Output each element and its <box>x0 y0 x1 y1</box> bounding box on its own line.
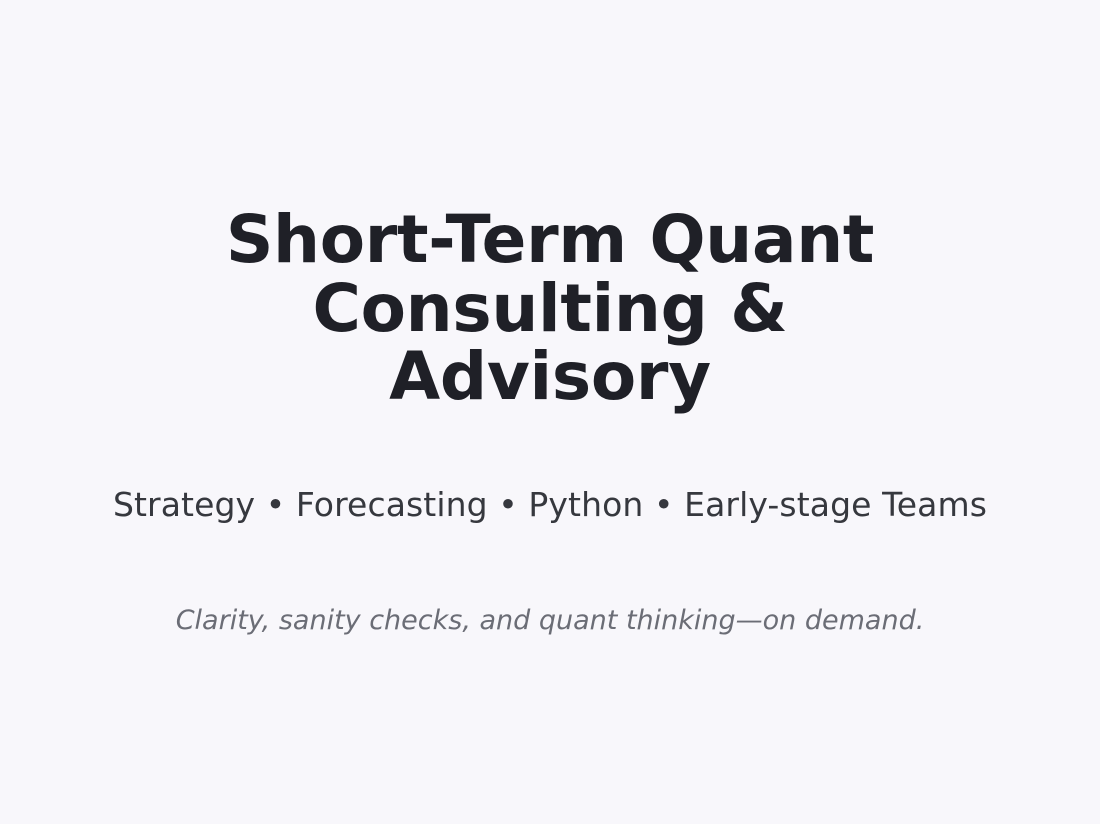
slide-subtitle: Strategy • Forecasting • Python • Early-… <box>113 484 987 525</box>
slide-tagline: Clarity, sanity checks, and quant thinki… <box>176 603 925 638</box>
page-title: Short-Term Quant Consulting & Advisory <box>155 206 945 412</box>
title-slide: Short-Term Quant Consulting & Advisory S… <box>0 0 1100 824</box>
slide-content-block: Short-Term Quant Consulting & Advisory S… <box>0 206 1100 638</box>
